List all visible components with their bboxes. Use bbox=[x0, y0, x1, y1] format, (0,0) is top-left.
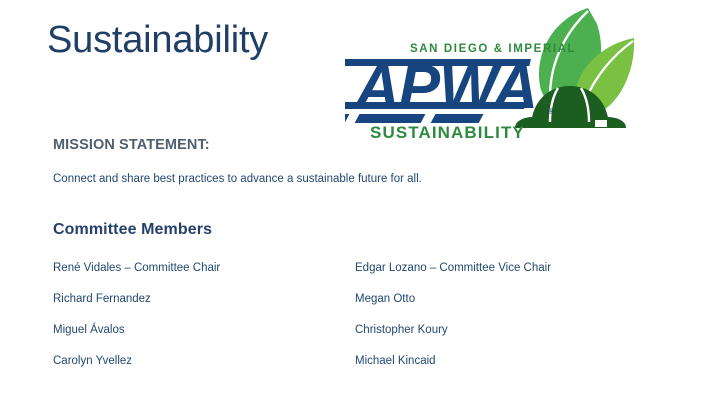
list-item: René Vidales – Committee Chair bbox=[53, 261, 220, 292]
mission-statement-text: Connect and share best practices to adva… bbox=[53, 173, 422, 185]
list-item: Miguel Ávalos bbox=[53, 323, 220, 354]
logo-wordmark: APWA bbox=[345, 53, 537, 122]
committee-members-heading: Committee Members bbox=[53, 221, 212, 239]
slide-canvas: Sustainability SAN DIEGO & IMPERIAL bbox=[0, 0, 720, 405]
list-item: Edgar Lozano – Committee Vice Chair bbox=[355, 261, 551, 292]
logo-registered-mark: ® bbox=[548, 107, 554, 116]
logo-bar-top bbox=[345, 59, 531, 66]
mission-statement-heading: MISSION STATEMENT: bbox=[53, 137, 210, 153]
list-item: Richard Fernandez bbox=[53, 292, 220, 323]
list-item: Megan Otto bbox=[355, 292, 551, 323]
committee-members-left-column: René Vidales – Committee Chair Richard F… bbox=[53, 261, 220, 385]
page-title: Sustainability bbox=[47, 17, 268, 63]
logo-bottom-text: SUSTAINABILITY bbox=[370, 123, 525, 142]
logo-speed-stripes bbox=[345, 114, 483, 123]
list-item: Michael Kincaid bbox=[355, 354, 551, 385]
committee-members-right-column: Edgar Lozano – Committee Vice Chair Mega… bbox=[355, 261, 551, 385]
list-item: Christopher Koury bbox=[355, 323, 551, 354]
list-item: Carolyn Yvellez bbox=[53, 354, 220, 385]
apwa-sustainability-logo: SAN DIEGO & IMPERIAL APWA ® SUSTAINABILI… bbox=[345, 2, 635, 142]
logo-bar-bottom bbox=[345, 102, 526, 109]
